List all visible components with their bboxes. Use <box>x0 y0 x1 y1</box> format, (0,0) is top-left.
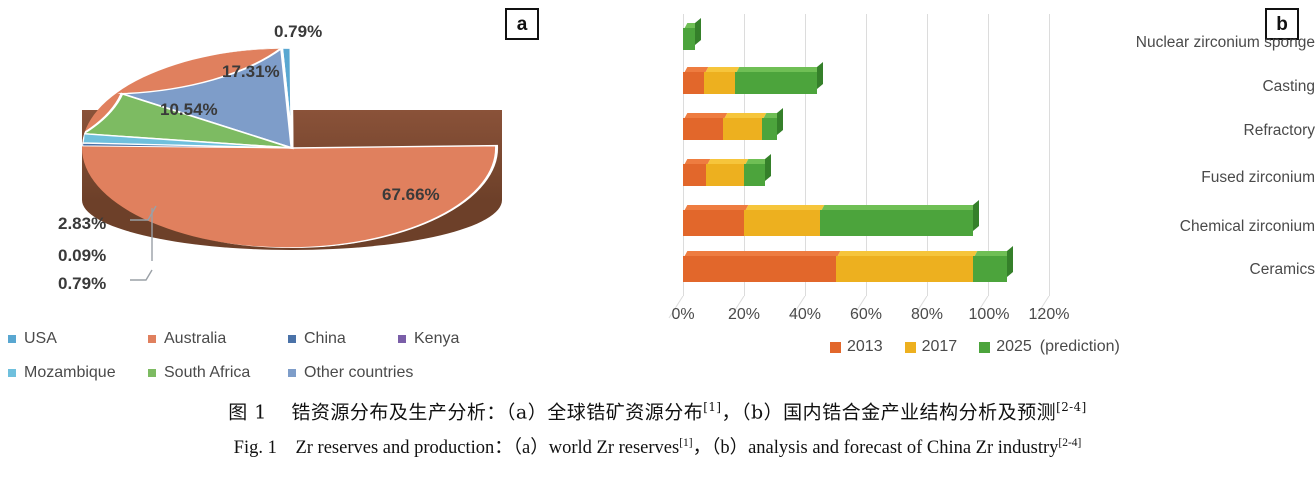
bar-top-chemical-2013 <box>685 205 749 210</box>
pie-legend-swatch-south-africa <box>148 369 156 377</box>
bar-legend-label-2025: 2025 <box>996 338 1032 356</box>
bar-legend-item-2025[interactable]: 2025 <box>979 338 1032 356</box>
figure-caption: 图 1 锆资源分布及生产分析：（a）全球锆矿资源分布[1]，（b）国内锆合金产业… <box>0 398 1315 462</box>
pie-legend-item-usa[interactable]: USA <box>8 330 148 348</box>
bar-row-casting <box>683 72 817 94</box>
bar-row-refractory <box>683 118 777 140</box>
bar-segment-ceramics-2013 <box>683 256 836 282</box>
pie-legend-label-other-countries: Other countries <box>304 364 413 382</box>
bar-top-fused-2017 <box>708 159 749 164</box>
panel-a-pie-chart: a <box>0 0 560 392</box>
bar-segment-ceramics-2017 <box>836 256 973 282</box>
pie-label-mozambique: 2.83% <box>58 214 106 234</box>
bar-row-ceramics <box>683 256 1007 282</box>
bar-category-label-ceramics: Ceramics <box>1110 261 1315 279</box>
bar-side-refractory <box>777 108 783 135</box>
caption-cn-ref-1: [1] <box>703 400 721 414</box>
caption-english: Fig. 1 Zr reserves and production：（a）wor… <box>0 434 1315 463</box>
pie-legend-swatch-mozambique <box>8 369 16 377</box>
bar-top-refractory-2013 <box>685 113 728 118</box>
xtick-label-0: 0% <box>658 306 708 324</box>
pie-label-china: 0.79% <box>58 274 106 294</box>
gridline-0 <box>683 14 684 296</box>
xtick-label-60: 60% <box>841 306 891 324</box>
bar-category-label-chemical-zirconium: Chemical zirconium <box>1110 218 1315 236</box>
bar-legend: 2013 2017 2025 (prediction) <box>830 338 1120 356</box>
bar-legend-prediction-note: (prediction) <box>1040 338 1120 356</box>
bar-top-fused-2013 <box>685 159 711 164</box>
gridline-120 <box>1049 14 1050 296</box>
bar-plot-area <box>665 14 1065 296</box>
pie-legend-label-usa: USA <box>24 330 57 348</box>
pie-legend-item-kenya[interactable]: Kenya <box>398 330 459 348</box>
bar-segment-chemical-2013 <box>683 210 744 236</box>
bar-segment-nuclear-2025 <box>683 28 695 50</box>
caption-cn-ref-2: [2-4] <box>1056 400 1087 414</box>
bar-legend-item-2017[interactable]: 2017 <box>905 338 958 356</box>
pie-legend-label-australia: Australia <box>164 330 226 348</box>
caption-en-text-2: ，（b）analysis and forecast of China Zr in… <box>693 438 1059 458</box>
pie-label-australia: 67.66% <box>382 185 440 205</box>
pie-top-surface <box>82 48 502 248</box>
bar-row-fused-zirconium <box>683 164 765 186</box>
bar-side-fused <box>765 154 771 181</box>
pie-slices <box>82 48 502 248</box>
bar-category-label-refractory: Refractory <box>1110 122 1315 140</box>
bar-legend-swatch-2017 <box>905 342 916 353</box>
caption-chinese: 图 1 锆资源分布及生产分析：（a）全球锆矿资源分布[1]，（b）国内锆合金产业… <box>0 398 1315 428</box>
pie-legend-swatch-china <box>288 335 296 343</box>
caption-en-prefix: Fig. 1 <box>234 438 277 458</box>
bar-segment-refractory-2013 <box>683 118 723 140</box>
bar-segment-fused-2017 <box>706 164 744 186</box>
bar-segment-refractory-2017 <box>723 118 762 140</box>
bar-top-refractory-2017 <box>725 113 767 118</box>
bar-side-casting <box>817 62 823 89</box>
pie-label-other-countries: 17.31% <box>222 62 280 82</box>
bar-segment-casting-2025 <box>735 72 817 94</box>
xtick-label-40: 40% <box>780 306 830 324</box>
pie-legend: USA Australia China Kenya Moza <box>8 330 488 398</box>
bar-top-casting-2025 <box>737 67 822 72</box>
pie-legend-label-kenya: Kenya <box>414 330 459 348</box>
bar-category-label-fused-zirconium: Fused zirconium <box>1110 169 1315 187</box>
caption-en-ref-2: [2-4] <box>1058 437 1081 449</box>
xtick-label-80: 80% <box>902 306 952 324</box>
pie-label-south-africa: 10.54% <box>160 100 218 120</box>
bar-segment-casting-2017 <box>704 72 735 94</box>
bar-row-nuclear-zirconium-sponge <box>683 28 695 50</box>
caption-cn-text-1: 锆资源分布及生产分析：（a）全球锆矿资源分布 <box>291 401 703 423</box>
xtick-label-100: 100% <box>961 306 1017 324</box>
pie-label-kenya: 0.09% <box>58 246 106 266</box>
caption-en-text-1: Zr reserves and production：（a）world Zr r… <box>295 438 679 458</box>
xtick-label-120: 120% <box>1021 306 1077 324</box>
bar-top-chemical-2017 <box>746 205 825 210</box>
caption-cn-text-2: ，（b）国内锆合金产业结构分析及预测 <box>721 401 1056 423</box>
bar-legend-item-2013[interactable]: 2013 <box>830 338 883 356</box>
pie-legend-item-other-countries[interactable]: Other countries <box>288 364 413 382</box>
bar-side-nuclear <box>695 18 701 45</box>
pie-legend-swatch-australia <box>148 335 156 343</box>
bar-segment-fused-2013 <box>683 164 706 186</box>
pie-legend-label-south-africa: South Africa <box>164 364 250 382</box>
bar-category-label-casting: Casting <box>1110 78 1315 96</box>
panel-b-bar-chart: b Nuclear zirconium sponge Casting Refra… <box>560 0 1315 392</box>
pie-legend-item-china[interactable]: China <box>288 330 398 348</box>
bar-top-ceramics-2025 <box>975 251 1012 256</box>
pie-label-usa: 0.79% <box>274 22 322 42</box>
bar-category-label-nuclear-zirconium-sponge: Nuclear zirconium sponge <box>1110 34 1315 52</box>
bar-side-chemical <box>973 200 979 231</box>
pie-legend-item-mozambique[interactable]: Mozambique <box>8 364 148 382</box>
figure-container: a <box>0 0 1315 488</box>
caption-cn-prefix: 图 1 <box>228 401 267 423</box>
pie-legend-swatch-kenya <box>398 335 406 343</box>
bar-segment-casting-2013 <box>683 72 704 94</box>
bar-segment-chemical-2017 <box>744 210 820 236</box>
caption-en-ref-1: [1] <box>679 437 692 449</box>
pie-legend-label-mozambique: Mozambique <box>24 364 116 382</box>
pie-legend-label-china: China <box>304 330 346 348</box>
xtick-label-20: 20% <box>719 306 769 324</box>
bar-segment-fused-2025 <box>744 164 765 186</box>
pie-legend-row-1: USA Australia China Kenya <box>8 330 488 348</box>
bar-segment-refractory-2025 <box>762 118 777 140</box>
pie-legend-item-australia[interactable]: Australia <box>148 330 288 348</box>
bar-segment-ceramics-2025 <box>973 256 1007 282</box>
bar-row-chemical-zirconium <box>683 210 973 236</box>
bar-top-ceramics-2013 <box>685 251 841 256</box>
bar-top-chemical-2025 <box>822 205 978 210</box>
pie-legend-swatch-other-countries <box>288 369 296 377</box>
pie-legend-row-2: Mozambique South Africa Other countries <box>8 364 488 382</box>
bar-legend-label-2017: 2017 <box>922 338 958 356</box>
pie-chart-graphic: 0.79% 17.31% 10.54% 67.66% 2.83% 0.09% 0… <box>52 18 512 308</box>
bar-segment-chemical-2025 <box>820 210 973 236</box>
pie-legend-item-south-africa[interactable]: South Africa <box>148 364 288 382</box>
bar-legend-swatch-2013 <box>830 342 841 353</box>
bar-legend-swatch-2025 <box>979 342 990 353</box>
pie-legend-swatch-usa <box>8 335 16 343</box>
bar-top-ceramics-2017 <box>838 251 978 256</box>
bar-top-casting-2017 <box>706 67 740 72</box>
bar-side-ceramics <box>1007 246 1013 277</box>
bar-legend-label-2013: 2013 <box>847 338 883 356</box>
